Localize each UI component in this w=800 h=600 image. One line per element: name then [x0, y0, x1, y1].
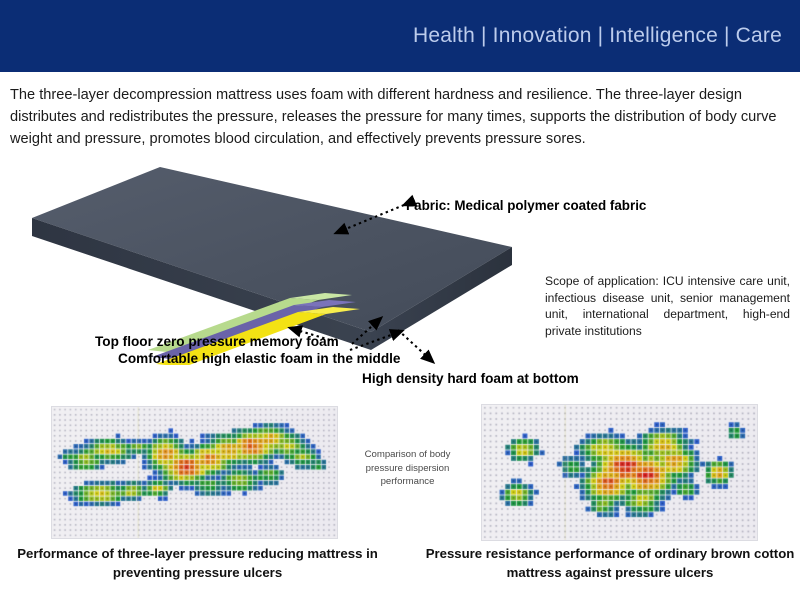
caption-right: Pressure resistance performance of ordin…: [425, 544, 795, 582]
callout-bottom-layer-label: High density hard foam at bottom: [362, 371, 579, 386]
slide-page: Health | Innovation | Intelligence | Car…: [0, 0, 800, 600]
scope-of-application: Scope of application: ICU intensive care…: [545, 273, 790, 339]
caption-left: Performance of three-layer pressure redu…: [10, 544, 385, 582]
mattress-illustration: [0, 150, 545, 365]
intro-paragraph: The three-layer decompression mattress u…: [10, 84, 788, 150]
callout-middle-layer-label: Comfortable high elastic foam in the mid…: [118, 351, 400, 366]
callout-fabric-label: Fabric: Medical polymer coated fabric: [406, 198, 646, 213]
callout-top-layer-label: Top floor zero pressure memory foam: [95, 334, 339, 349]
pressure-map-right-canvas: [482, 405, 757, 540]
pressure-map-left: [52, 407, 337, 538]
page-header: Health | Innovation | Intelligence | Car…: [0, 0, 800, 72]
header-title: Health | Innovation | Intelligence | Car…: [413, 24, 782, 48]
pressure-map-left-canvas: [52, 407, 337, 538]
comparison-note: Comparison of body pressure dispersion p…: [345, 448, 470, 489]
pressure-map-right: [482, 405, 757, 540]
mattress-svg: [0, 150, 545, 365]
